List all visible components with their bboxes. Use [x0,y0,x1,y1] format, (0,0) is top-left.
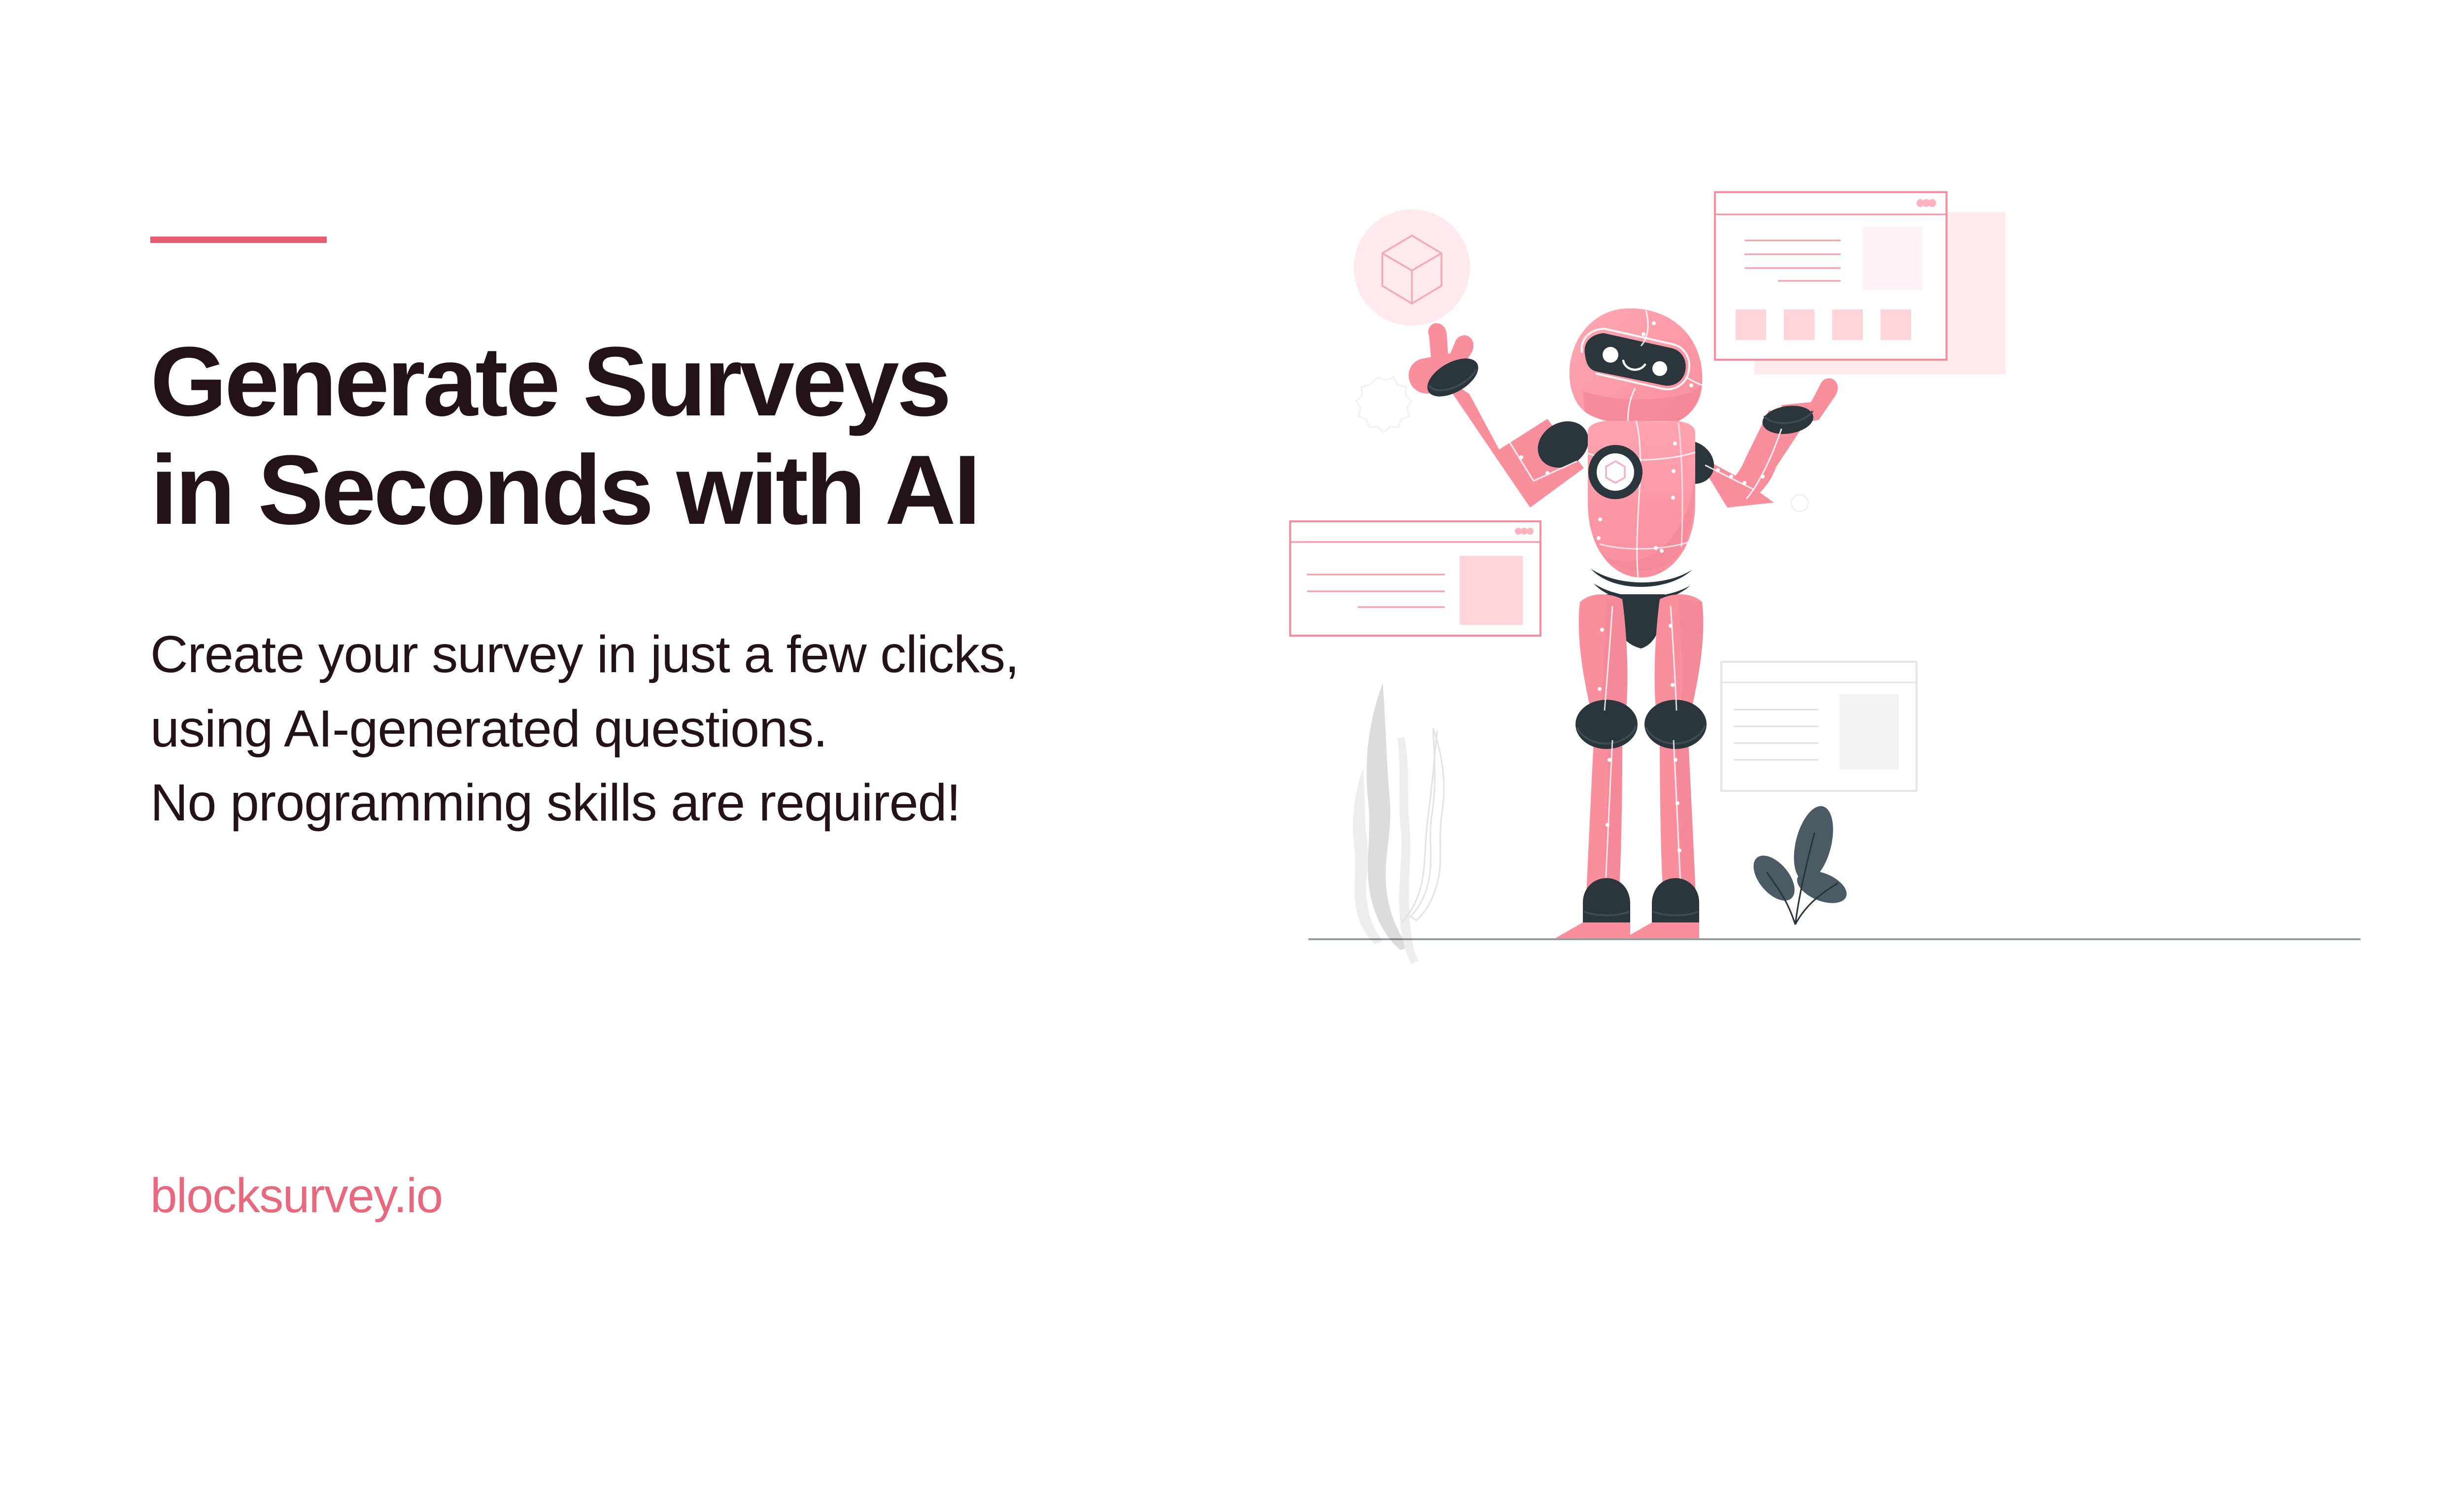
window-dot-icon [1521,528,1528,535]
page-title: Generate Surveys in Seconds with AI [150,328,1234,545]
robot-legs [1555,594,1707,938]
robot-knee [1575,700,1638,749]
browser-card-left [1290,521,1540,636]
hero-subcopy: Create your survey in just a few clicks,… [150,617,1234,840]
gear-outline-icon [1356,377,1411,432]
robot-foot [1555,922,1630,938]
window-dot-icon [1527,528,1534,535]
bar-chart-bar [1736,309,1766,340]
hero-banner: Generate Surveys in Seconds with AI Crea… [0,0,2464,1498]
cube-badge-icon [1354,209,1470,326]
robot-knee [1644,700,1707,749]
window-dot-icon [1515,528,1522,535]
window-dot-icon [1928,199,1936,207]
bar-chart-bar [1784,309,1814,340]
small-circle-decoration [1791,495,1808,511]
accent-rule [150,237,327,243]
bar-chart-bar [1881,309,1911,340]
bar-chart-bar [1832,309,1863,340]
fern-plant [1353,683,1443,964]
robot-eye-left [1603,347,1618,363]
browser-card-top-right [1715,192,2006,374]
hero-copy-block: Generate Surveys in Seconds with AI Crea… [150,237,1234,840]
brand-website-link[interactable]: blocksurvey.io [150,1168,443,1224]
robot-foot [1624,922,1699,938]
browser-card-bottom-right [1721,662,1916,791]
robot-eye-right [1652,361,1667,376]
robot-torso [1588,421,1695,578]
hero-illustration [1281,163,2464,1316]
robot-head [1570,308,1703,426]
sprig-plant [1745,802,1851,924]
robot-left-arm [1408,323,1597,508]
